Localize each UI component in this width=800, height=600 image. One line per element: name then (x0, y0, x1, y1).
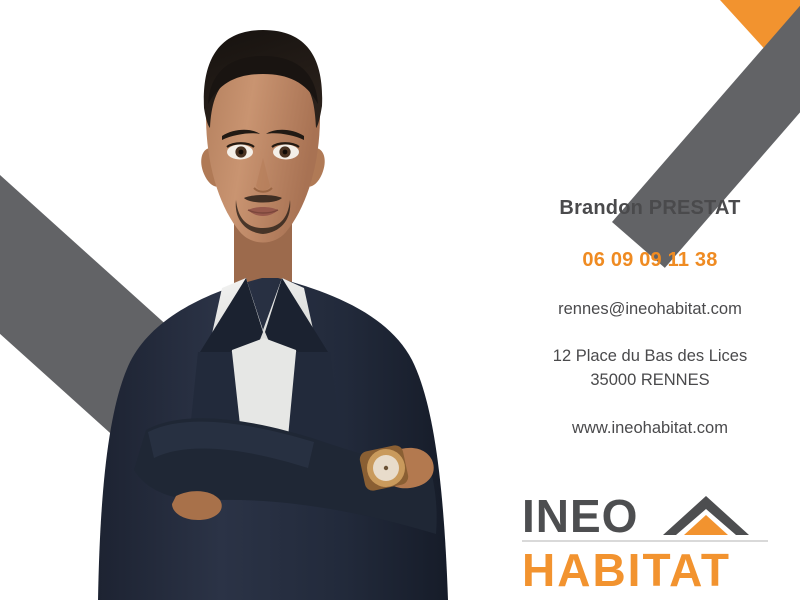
contact-website[interactable]: www.ineohabitat.com (500, 419, 800, 438)
contact-address: 12 Place du Bas des Lices 35000 RENNES (500, 345, 800, 393)
contact-info: Brandon PRESTAT 06 09 09 11 38 rennes@in… (500, 196, 800, 438)
business-card: Brandon PRESTAT 06 09 09 11 38 rennes@in… (0, 0, 800, 600)
address-line-1: 12 Place du Bas des Lices (500, 345, 800, 369)
orange-corner-triangle-top-right (720, 0, 800, 88)
contact-email[interactable]: rennes@ineohabitat.com (500, 300, 800, 319)
address-line-2: 35000 RENNES (500, 369, 800, 393)
portrait-photo (56, 0, 526, 600)
ineo-habitat-logo: INEO HABITAT (522, 488, 768, 594)
logo-ineo-text: INEO (522, 490, 638, 542)
house-roof-icon (663, 496, 749, 535)
logo-habitat-text: HABITAT (522, 544, 731, 594)
portrait-illustration (56, 0, 526, 600)
logo-graphic: INEO HABITAT (522, 488, 768, 594)
contact-name: Brandon PRESTAT (500, 196, 800, 220)
contact-phone[interactable]: 06 09 09 11 38 (500, 249, 800, 272)
logo-divider (522, 540, 768, 542)
